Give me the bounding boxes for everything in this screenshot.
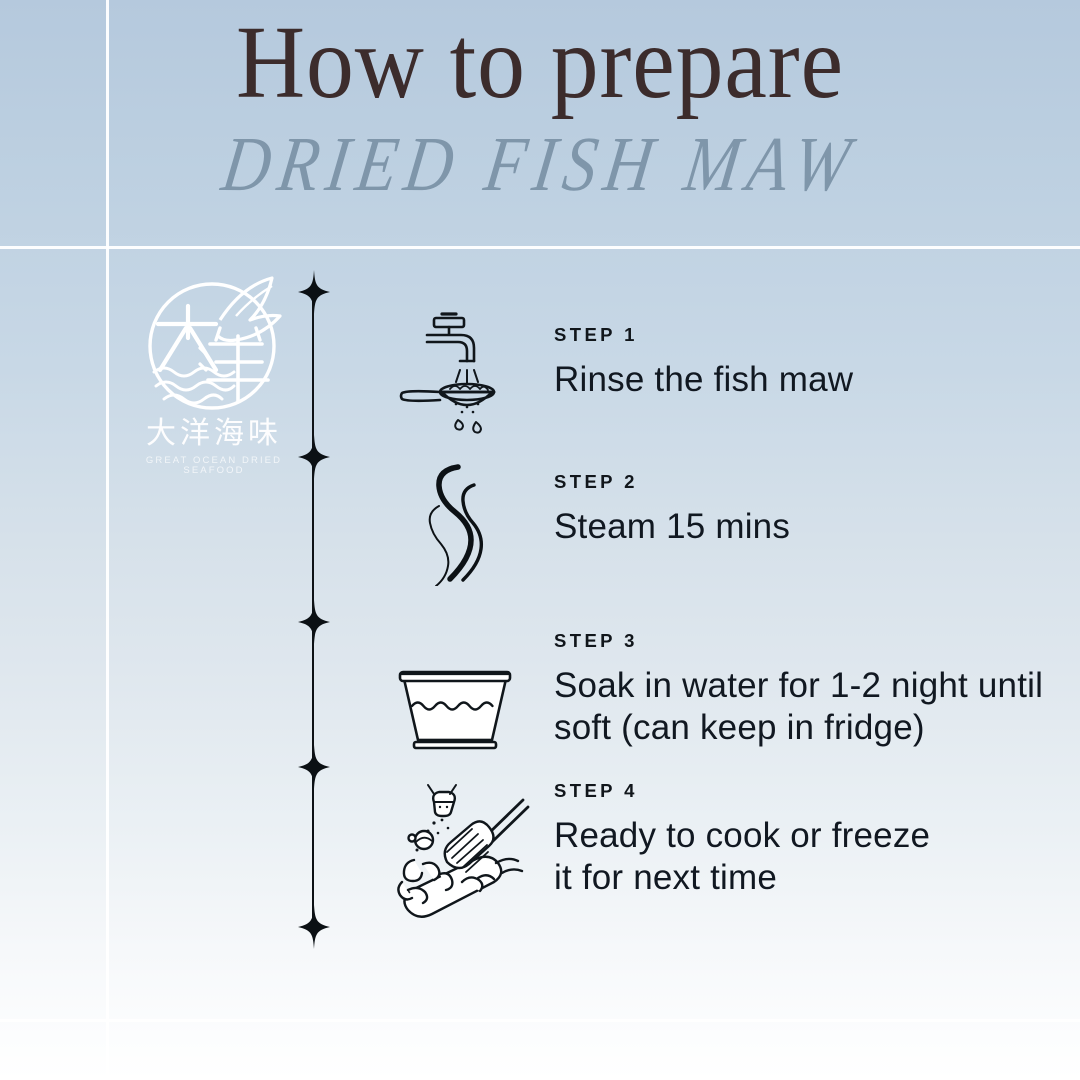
step-2-text: Steam 15 mins: [554, 506, 790, 548]
step-3: STEP 3 Soak in water for 1-2 night until…: [554, 632, 1043, 749]
step-4-icon-wrap: [390, 778, 530, 929]
step-4: STEP 4 Ready to cook or freeze it for ne…: [554, 782, 930, 899]
steam-icon: [412, 462, 512, 586]
step-2-label: STEP 2: [554, 473, 790, 492]
step-1-icon-wrap: [396, 308, 516, 441]
step-4-text: Ready to cook or freeze it for next time: [554, 815, 930, 899]
step-1-label: STEP 1: [554, 326, 853, 345]
step-3-icon-wrap: [390, 660, 520, 761]
step-3-label: STEP 3: [554, 632, 1043, 651]
water-basin-icon: [390, 660, 520, 756]
step-1: STEP 1 Rinse the fish maw: [554, 326, 853, 401]
steps-list: STEP 1 Rinse the fish maw STEP 2 Steam 1…: [0, 0, 1080, 1080]
infographic-canvas: How to prepare DRIED FISH MAW: [0, 0, 1080, 1080]
faucet-strainer-icon: [396, 308, 516, 436]
step-1-text: Rinse the fish maw: [554, 359, 853, 401]
step-2: STEP 2 Steam 15 mins: [554, 473, 790, 548]
step-2-icon-wrap: [412, 462, 512, 591]
step-3-text: Soak in water for 1-2 night until soft (…: [554, 665, 1043, 749]
pan-spatula-icon: [390, 778, 530, 924]
step-4-label: STEP 4: [554, 782, 930, 801]
